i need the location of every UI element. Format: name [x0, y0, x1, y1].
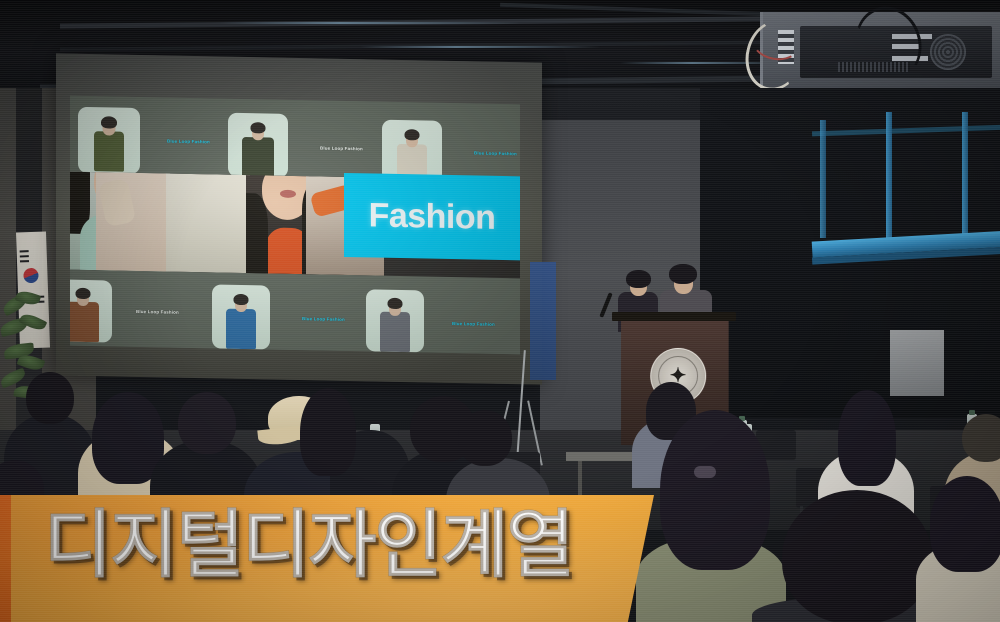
auditorium-photo: Blue Loop Fashion Blue Loop Fashion Blue…: [0, 0, 1000, 622]
scaffold-post: [962, 112, 968, 236]
photo-hair: [246, 193, 268, 274]
card-head: [101, 116, 117, 128]
audience-head: [962, 414, 1000, 462]
rail-highlight: [360, 46, 600, 48]
speaker-head: [626, 270, 651, 288]
card-head: [251, 122, 266, 133]
audience-hair: [660, 410, 770, 570]
product-card: [212, 284, 270, 349]
projector-vent-icon: [930, 34, 966, 70]
product-tag: Blue Loop Fashion: [474, 150, 517, 156]
product-card: [228, 113, 288, 178]
card-head: [76, 288, 91, 299]
product-tag: Blue Loop Fashion: [136, 309, 179, 315]
audience-head: [178, 392, 236, 454]
stage-banner: [530, 262, 556, 380]
product-card: [70, 279, 112, 342]
bottle-cap: [969, 410, 975, 415]
rail-highlight: [220, 22, 520, 24]
product-tag: Blue Loop Fashion: [302, 316, 345, 322]
card-head: [388, 298, 403, 309]
card-head: [234, 294, 249, 305]
scaffold-post: [820, 120, 826, 238]
hair-tie: [694, 466, 716, 478]
flag-trigram: [20, 260, 29, 262]
card-head: [405, 129, 420, 140]
product-tag: Blue Loop Fashion: [167, 139, 210, 145]
card-garment: [226, 309, 256, 350]
scaffold-post: [886, 112, 892, 242]
banner-title-text: 디지털디자인계열: [44, 507, 573, 582]
flag-taeguk: [23, 268, 39, 284]
ceiling-rail: [500, 3, 800, 17]
presentation-slide: Blue Loop Fashion Blue Loop Fashion Blue…: [70, 96, 520, 355]
audience-hair: [300, 388, 356, 476]
product-tag: Blue Loop Fashion: [320, 145, 363, 151]
card-garment: [94, 131, 124, 172]
card-garment: [70, 302, 99, 343]
flag-trigram: [20, 255, 29, 257]
product-card: [78, 107, 140, 174]
banner-accent-stripe: [0, 495, 11, 622]
slide-headline-block: Fashion: [344, 173, 520, 260]
audience-head: [782, 490, 932, 622]
card-garment: [242, 137, 274, 178]
podium-top: [612, 312, 736, 321]
photo-lips: [280, 190, 296, 198]
card-garment: [380, 312, 410, 353]
photo-hand: [98, 178, 136, 227]
speaker-head: [669, 264, 697, 284]
product-card: [366, 289, 424, 352]
photo-segment: [96, 172, 170, 271]
wall-box: [890, 330, 944, 396]
product-tag: Blue Loop Fashion: [452, 321, 495, 327]
audience-head: [458, 410, 512, 466]
slide-headline-text: Fashion: [369, 198, 496, 234]
audience-hair: [838, 390, 896, 486]
photo-segment: [166, 174, 250, 274]
flag-trigram: [20, 250, 29, 252]
audience-head: [26, 372, 74, 424]
audience-hair: [930, 476, 1000, 572]
